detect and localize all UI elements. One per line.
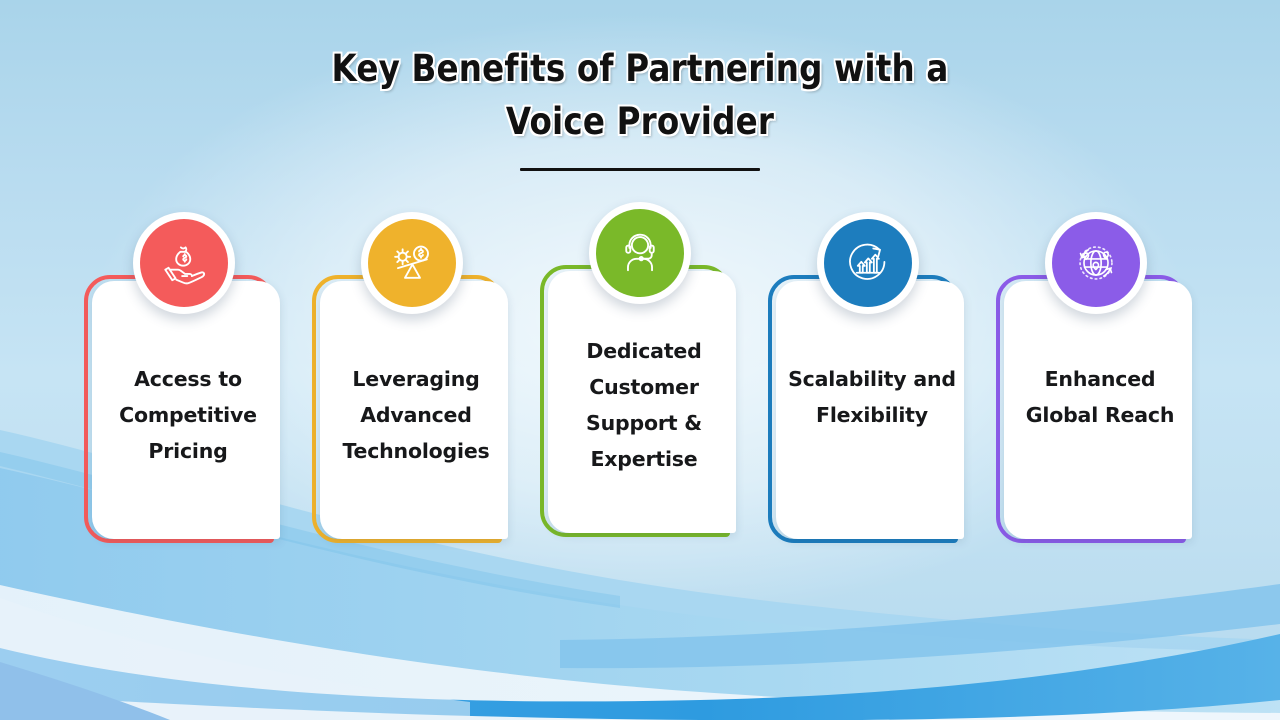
card-icon-badge bbox=[589, 202, 691, 304]
benefit-card-enhanced-global-reach[interactable]: Enhanced Global Reach bbox=[996, 275, 1196, 547]
page-title-block: Key Benefits of Partnering with a Voice … bbox=[0, 42, 1280, 171]
headset-support-agent-icon bbox=[615, 228, 665, 278]
card-face: Enhanced Global Reach bbox=[1004, 281, 1192, 539]
card-label: Leveraging Advanced Technologies bbox=[330, 361, 502, 469]
card-face: Access to Competitive Pricing bbox=[92, 281, 280, 539]
card-label: Enhanced Global Reach bbox=[1014, 361, 1186, 433]
benefit-card-leveraging-advanced-technologies[interactable]: Leveraging Advanced Technologies bbox=[312, 275, 512, 547]
card-label: Dedicated Customer Support & Expertise bbox=[558, 333, 730, 477]
card-icon-badge bbox=[133, 212, 235, 314]
card-label: Scalability and Flexibility bbox=[786, 361, 958, 433]
infographic-slide: Key Benefits of Partnering with a Voice … bbox=[0, 0, 1280, 720]
card-face: Scalability and Flexibility bbox=[776, 281, 964, 539]
benefit-card-scalability-and-flexibility[interactable]: Scalability and Flexibility bbox=[768, 275, 968, 547]
hand-holding-money-bag-icon bbox=[159, 238, 209, 288]
benefit-card-access-competitive-pricing[interactable]: Access to Competitive Pricing bbox=[84, 275, 284, 547]
benefit-card-dedicated-customer-support[interactable]: Dedicated Customer Support & Expertise bbox=[540, 275, 740, 547]
card-icon-badge bbox=[361, 212, 463, 314]
globe-location-pins-icon bbox=[1071, 238, 1121, 288]
card-label: Access to Competitive Pricing bbox=[102, 361, 274, 469]
card-icon-badge bbox=[817, 212, 919, 314]
growth-bars-circular-arrow-icon bbox=[843, 238, 893, 288]
benefit-card-row: Access to Competitive Pricing bbox=[84, 275, 1196, 547]
card-face: Leveraging Advanced Technologies bbox=[320, 281, 508, 539]
title-divider bbox=[520, 168, 760, 171]
gear-and-coin-balance-scale-icon bbox=[387, 238, 437, 288]
card-face: Dedicated Customer Support & Expertise bbox=[548, 271, 736, 533]
card-icon-badge bbox=[1045, 212, 1147, 314]
page-title: Key Benefits of Partnering with a Voice … bbox=[306, 42, 975, 148]
